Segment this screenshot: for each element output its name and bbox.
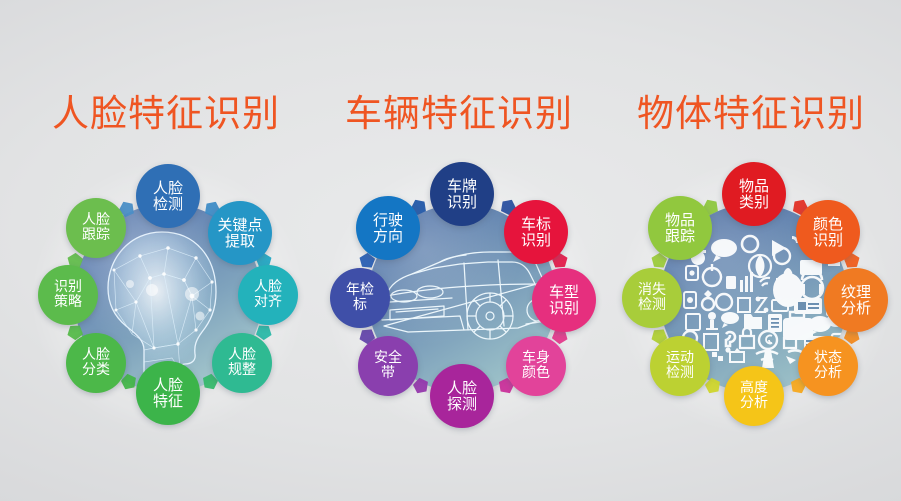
bubble-vehicle-2[interactable]: 车标识别 <box>504 200 568 264</box>
bubble-label-line: 规整 <box>228 363 256 378</box>
bubble-label-line: 人脸 <box>228 348 256 363</box>
bubble-object-2[interactable]: 颜色识别 <box>796 200 860 264</box>
bubble-label-line: 带 <box>381 366 395 381</box>
bubble-face-8[interactable]: 人脸跟踪 <box>66 198 126 258</box>
bubble-label-line: 年检 <box>346 283 374 298</box>
section-title-object: 物体特征识别 <box>637 83 865 137</box>
bubble-label-line: 分析 <box>740 396 768 411</box>
bubble-label-line: 人脸 <box>82 213 110 228</box>
bubble-label-line: 对齐 <box>254 295 282 310</box>
bubble-object-1[interactable]: 物品类别 <box>722 162 786 226</box>
infographic-stage: 人脸特征识别 车辆特征识别 物体特征识别 <box>0 0 901 501</box>
bubble-label-line: 行驶 <box>373 212 403 228</box>
bubble-label-line: 车牌 <box>447 178 477 194</box>
bubble-label-line: 检测 <box>638 298 666 313</box>
bubble-label-line: 关键点 <box>217 217 262 233</box>
bubble-face-5[interactable]: 人脸特征 <box>136 361 200 425</box>
bubble-label-line: 方向 <box>373 228 403 244</box>
bubble-label-line: 跟踪 <box>82 228 110 243</box>
bubble-label-line: 识别 <box>549 300 579 316</box>
bubble-vehicle-7[interactable]: 年检标 <box>330 268 390 328</box>
bubble-label-line: 人脸 <box>153 377 183 393</box>
bubble-label-line: 颜色 <box>522 366 550 381</box>
cluster-face: 人脸检测关键点提取人脸对齐人脸规整人脸特征人脸分类识别策略人脸跟踪 <box>18 148 318 448</box>
bubble-face-4[interactable]: 人脸规整 <box>212 333 272 393</box>
bubble-label-line: 探测 <box>447 396 477 412</box>
bubble-object-6[interactable]: 运动检测 <box>650 336 710 396</box>
bubble-label-line: 标 <box>353 298 367 313</box>
bubble-label-line: 特征 <box>153 393 183 409</box>
section-title-vehicle: 车辆特征识别 <box>345 83 573 137</box>
bubble-label-line: 识别 <box>521 232 551 248</box>
bubble-object-7[interactable]: 消失检测 <box>622 268 682 328</box>
bubble-label-line: 纹理 <box>841 284 871 300</box>
bubble-label-line: 提取 <box>225 233 255 249</box>
bubble-face-7[interactable]: 识别策略 <box>38 265 98 325</box>
bubble-vehicle-5[interactable]: 人脸探测 <box>430 364 494 428</box>
bubble-label-line: 车身 <box>522 351 550 366</box>
bubble-object-8[interactable]: 物品跟踪 <box>648 196 712 260</box>
bubble-vehicle-1[interactable]: 车牌识别 <box>430 162 494 226</box>
bubble-vehicle-4[interactable]: 车身颜色 <box>506 336 566 396</box>
bubble-label-line: 车标 <box>521 216 551 232</box>
bubble-label-line: 物品 <box>739 178 769 194</box>
cluster-vehicle: 车牌识别车标识别车型识别车身颜色人脸探测安全带年检标行驶方向 <box>312 148 612 448</box>
bubble-label-line: 物品 <box>665 212 695 228</box>
bubble-label-line: 跟踪 <box>665 228 695 244</box>
bubble-label-line: 分析 <box>841 300 871 316</box>
bubble-vehicle-6[interactable]: 安全带 <box>358 336 418 396</box>
bubble-label-line: 识别 <box>54 280 82 295</box>
bubble-label-line: 识别 <box>813 232 843 248</box>
bubble-label-line: 高度 <box>740 381 768 396</box>
bubble-label-line: 检测 <box>153 196 183 212</box>
bubble-label-line: 人脸 <box>254 280 282 295</box>
bubble-label-line: 策略 <box>54 295 82 310</box>
bubble-label-line: 安全 <box>374 351 402 366</box>
bubble-face-2[interactable]: 关键点提取 <box>208 201 272 265</box>
bubble-label-line: 类别 <box>739 194 769 210</box>
bubble-label-line: 颜色 <box>813 216 843 232</box>
bubble-label-line: 消失 <box>638 283 666 298</box>
bubble-object-4[interactable]: 状态分析 <box>798 336 858 396</box>
bubble-vehicle-8[interactable]: 行驶方向 <box>356 196 420 260</box>
bubble-label-line: 状态 <box>814 351 842 366</box>
bubble-vehicle-3[interactable]: 车型识别 <box>532 268 596 332</box>
bubble-label-line: 人脸 <box>153 180 183 196</box>
bubble-label-line: 运动 <box>666 351 694 366</box>
bubble-object-3[interactable]: 纹理分析 <box>824 268 888 332</box>
bubble-label-line: 分类 <box>82 363 110 378</box>
bubble-face-3[interactable]: 人脸对齐 <box>238 265 298 325</box>
bubble-label-line: 识别 <box>447 194 477 210</box>
bubble-label-line: 人脸 <box>82 348 110 363</box>
cluster-object: 物品类别颜色识别纹理分析状态分析高度分析运动检测消失检测物品跟踪 <box>604 148 901 448</box>
bubble-label-line: 分析 <box>814 366 842 381</box>
bubble-label-line: 人脸 <box>447 380 477 396</box>
bubble-face-1[interactable]: 人脸检测 <box>136 164 200 228</box>
bubble-object-5[interactable]: 高度分析 <box>724 366 784 426</box>
bubble-label-line: 检测 <box>666 366 694 381</box>
bubble-label-line: 车型 <box>549 284 579 300</box>
bubble-face-6[interactable]: 人脸分类 <box>66 333 126 393</box>
section-title-face: 人脸特征识别 <box>52 83 280 137</box>
